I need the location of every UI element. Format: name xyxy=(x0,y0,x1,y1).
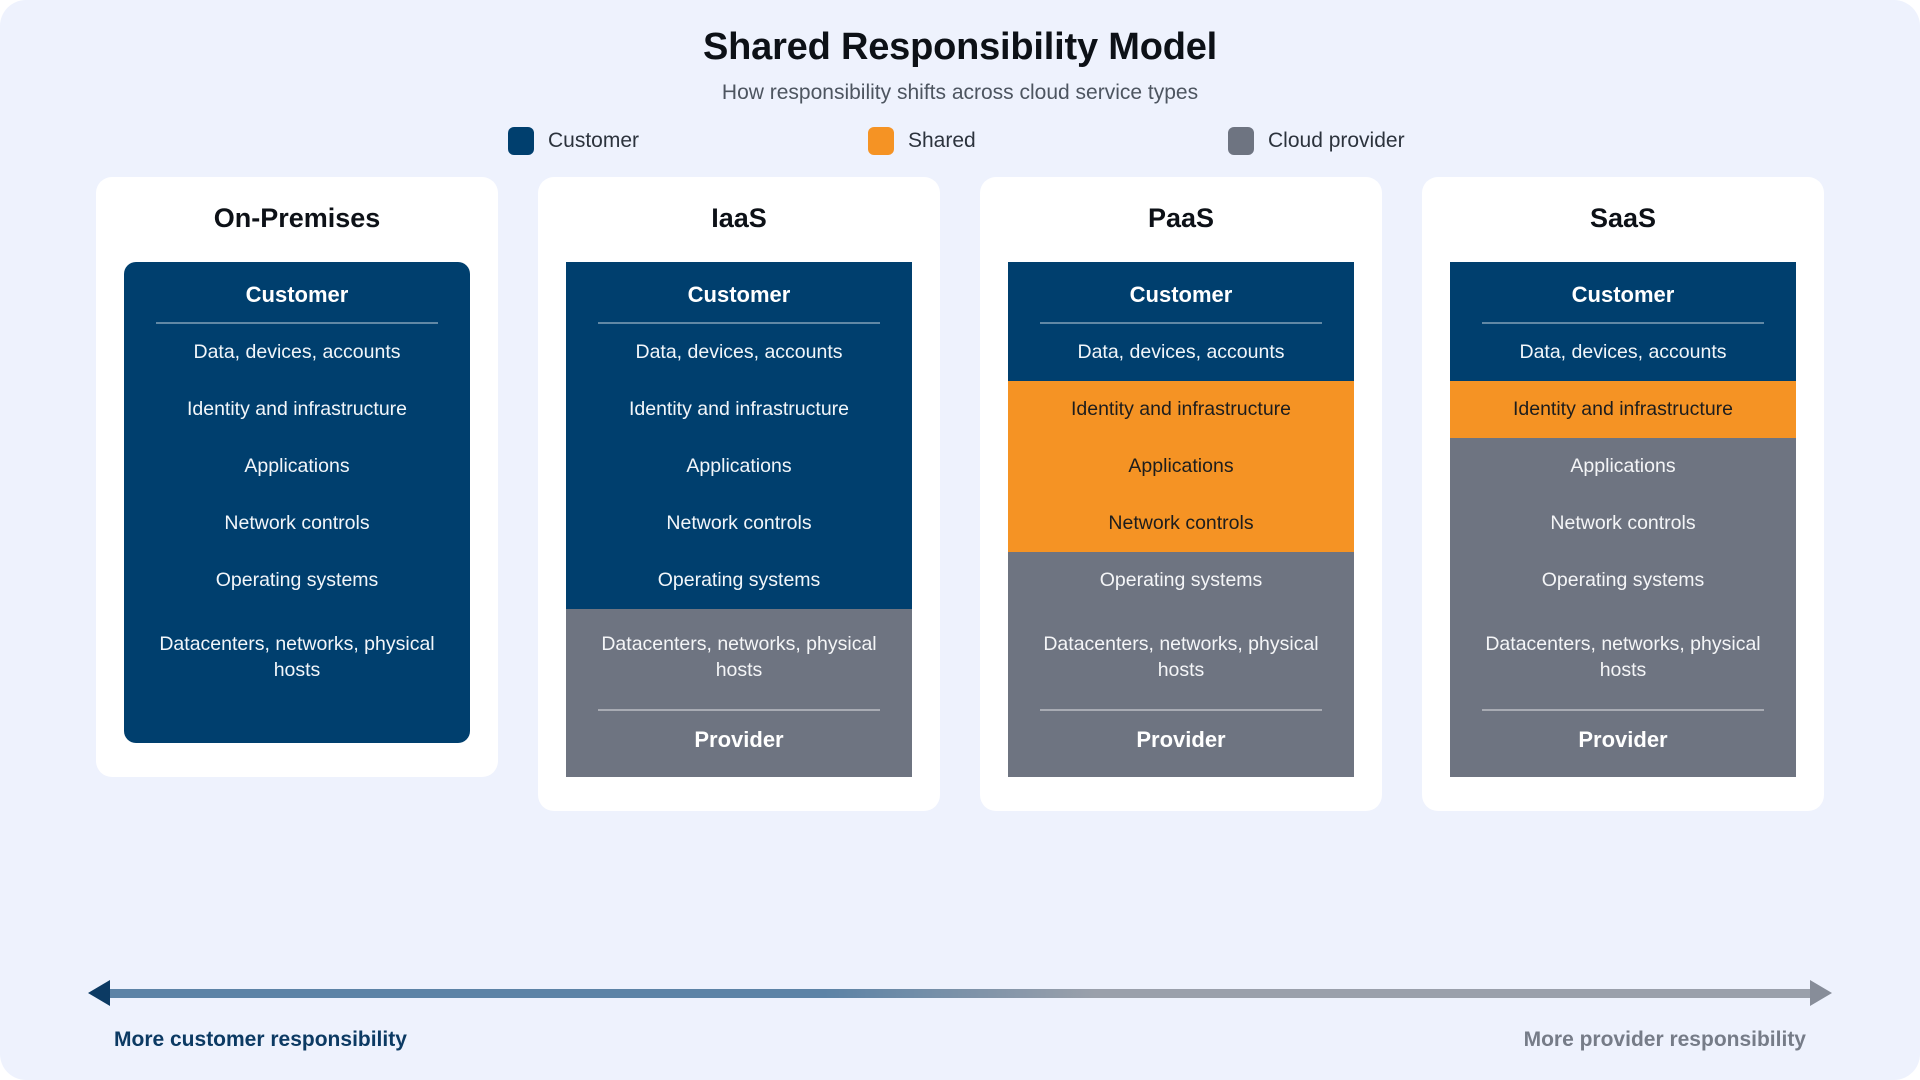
responsibility-stack: CustomerData, devices, accountsIdentity … xyxy=(1450,262,1796,777)
column-title: On-Premises xyxy=(124,203,470,234)
responsibility-layer-label: Data, devices, accounts xyxy=(635,339,842,365)
stack-customer-heading: Customer xyxy=(1008,262,1354,324)
column-card-on-premises[interactable]: On-PremisesCustomerData, devices, accoun… xyxy=(96,177,498,777)
arrow-row xyxy=(88,982,1832,1004)
responsibility-stack: CustomerData, devices, accountsIdentity … xyxy=(124,262,470,743)
footer-label-provider: More provider responsibility xyxy=(1524,1028,1806,1052)
columns-container: On-PremisesCustomerData, devices, accoun… xyxy=(0,177,1920,811)
responsibility-layer-label: Applications xyxy=(1128,453,1233,479)
legend-item-provider: Cloud provider xyxy=(1140,127,1500,155)
column-card-paas[interactable]: PaaSCustomerData, devices, accountsIdent… xyxy=(980,177,1382,811)
responsibility-layer-label: Network controls xyxy=(666,510,811,536)
stack-provider-footer: Provider xyxy=(1450,705,1796,777)
responsibility-layer-label: Applications xyxy=(244,453,349,479)
responsibility-layer[interactable]: Datacenters, networks, physical hosts xyxy=(566,609,912,705)
responsibility-layer-label: Datacenters, networks, physical hosts xyxy=(1022,631,1340,684)
responsibility-layer[interactable]: Data, devices, accounts xyxy=(1008,324,1354,381)
responsibility-layer-label: Network controls xyxy=(1550,510,1695,536)
page-subtitle: How responsibility shifts across cloud s… xyxy=(0,81,1920,105)
responsibility-layer-label: Datacenters, networks, physical hosts xyxy=(580,631,898,684)
legend-item-shared: Shared xyxy=(780,127,1140,155)
responsibility-layer[interactable]: Data, devices, accounts xyxy=(566,324,912,381)
arrow-left-icon xyxy=(88,980,110,1006)
responsibility-layer-label: Operating systems xyxy=(1100,567,1263,593)
column-title: PaaS xyxy=(1008,203,1354,234)
stack-customer-heading-label: Customer xyxy=(1030,282,1332,322)
legend: CustomerSharedCloud provider xyxy=(0,127,1920,155)
stack-provider-footer: Provider xyxy=(566,705,912,777)
responsibility-layer[interactable]: Operating systems xyxy=(566,552,912,609)
responsibility-layer[interactable]: Network controls xyxy=(124,495,470,552)
responsibility-layer-label: Identity and infrastructure xyxy=(1513,396,1733,422)
responsibility-layer[interactable]: Operating systems xyxy=(124,552,470,609)
legend-item-customer: Customer xyxy=(420,127,780,155)
stack-customer-heading-label: Customer xyxy=(1472,282,1774,322)
legend-label: Cloud provider xyxy=(1268,129,1405,153)
stack-footer-divider xyxy=(598,709,880,711)
responsibility-layer-label: Operating systems xyxy=(1542,567,1705,593)
responsibility-layer-label: Datacenters, networks, physical hosts xyxy=(1464,631,1782,684)
stack-footer-divider xyxy=(1482,709,1764,711)
legend-swatch-customer-icon xyxy=(508,127,534,155)
responsibility-layer-label: Data, devices, accounts xyxy=(1077,339,1284,365)
responsibility-layer[interactable]: Identity and infrastructure xyxy=(566,381,912,438)
responsibility-layer-label: Identity and infrastructure xyxy=(629,396,849,422)
responsibility-layer-label: Operating systems xyxy=(216,567,379,593)
responsibility-stack: CustomerData, devices, accountsIdentity … xyxy=(566,262,912,777)
stack-provider-footer-label: Provider xyxy=(1472,727,1774,753)
stack-bottom-padding xyxy=(124,705,470,743)
column-card-saas[interactable]: SaaSCustomerData, devices, accountsIdent… xyxy=(1422,177,1824,811)
column-title: IaaS xyxy=(566,203,912,234)
page-title: Shared Responsibility Model xyxy=(0,26,1920,69)
legend-swatch-shared-icon xyxy=(868,127,894,155)
arrow-bar xyxy=(110,989,1810,998)
responsibility-layer-label: Network controls xyxy=(1108,510,1253,536)
responsibility-layer[interactable]: Data, devices, accounts xyxy=(124,324,470,381)
stack-footer-divider xyxy=(1040,709,1322,711)
legend-swatch-provider-icon xyxy=(1228,127,1254,155)
column-title: SaaS xyxy=(1450,203,1796,234)
diagram-frame: Shared Responsibility Model How responsi… xyxy=(0,0,1920,1080)
header: Shared Responsibility Model How responsi… xyxy=(0,0,1920,105)
responsibility-layer[interactable]: Identity and infrastructure xyxy=(1008,381,1354,438)
responsibility-layer-label: Identity and infrastructure xyxy=(187,396,407,422)
stack-customer-heading: Customer xyxy=(566,262,912,324)
responsibility-layer-label: Datacenters, networks, physical hosts xyxy=(138,631,456,684)
responsibility-layer-label: Operating systems xyxy=(658,567,821,593)
arrow-right-icon xyxy=(1810,980,1832,1006)
responsibility-layer[interactable]: Applications xyxy=(124,438,470,495)
footer-label-customer: More customer responsibility xyxy=(114,1028,407,1052)
responsibility-layer[interactable]: Applications xyxy=(1450,438,1796,495)
responsibility-layer-label: Applications xyxy=(686,453,791,479)
responsibility-layer-label: Data, devices, accounts xyxy=(1519,339,1726,365)
stack-customer-heading: Customer xyxy=(1450,262,1796,324)
responsibility-layer-label: Data, devices, accounts xyxy=(193,339,400,365)
responsibility-layer-label: Network controls xyxy=(224,510,369,536)
column-card-iaas[interactable]: IaaSCustomerData, devices, accountsIdent… xyxy=(538,177,940,811)
stack-customer-heading: Customer xyxy=(124,262,470,324)
footer-labels: More customer responsibility More provid… xyxy=(88,1028,1832,1052)
responsibility-layer[interactable]: Data, devices, accounts xyxy=(1450,324,1796,381)
stack-provider-footer-label: Provider xyxy=(1030,727,1332,753)
stack-provider-footer: Provider xyxy=(1008,705,1354,777)
responsibility-layer[interactable]: Operating systems xyxy=(1008,552,1354,609)
responsibility-layer[interactable]: Datacenters, networks, physical hosts xyxy=(1008,609,1354,705)
responsibility-gradient-footer: More customer responsibility More provid… xyxy=(0,982,1920,1052)
responsibility-stack: CustomerData, devices, accountsIdentity … xyxy=(1008,262,1354,777)
responsibility-layer[interactable]: Applications xyxy=(1008,438,1354,495)
responsibility-layer-label: Applications xyxy=(1570,453,1675,479)
responsibility-layer[interactable]: Network controls xyxy=(1008,495,1354,552)
responsibility-layer[interactable]: Applications xyxy=(566,438,912,495)
responsibility-layer[interactable]: Datacenters, networks, physical hosts xyxy=(124,609,470,705)
stack-customer-heading-label: Customer xyxy=(588,282,890,322)
responsibility-layer[interactable]: Operating systems xyxy=(1450,552,1796,609)
legend-label: Customer xyxy=(548,129,639,153)
responsibility-layer-label: Identity and infrastructure xyxy=(1071,396,1291,422)
responsibility-layer[interactable]: Network controls xyxy=(1450,495,1796,552)
stack-customer-heading-label: Customer xyxy=(146,282,448,322)
responsibility-layer[interactable]: Datacenters, networks, physical hosts xyxy=(1450,609,1796,705)
responsibility-layer[interactable]: Identity and infrastructure xyxy=(124,381,470,438)
legend-label: Shared xyxy=(908,129,976,153)
stack-provider-footer-label: Provider xyxy=(588,727,890,753)
responsibility-layer[interactable]: Identity and infrastructure xyxy=(1450,381,1796,438)
responsibility-layer[interactable]: Network controls xyxy=(566,495,912,552)
